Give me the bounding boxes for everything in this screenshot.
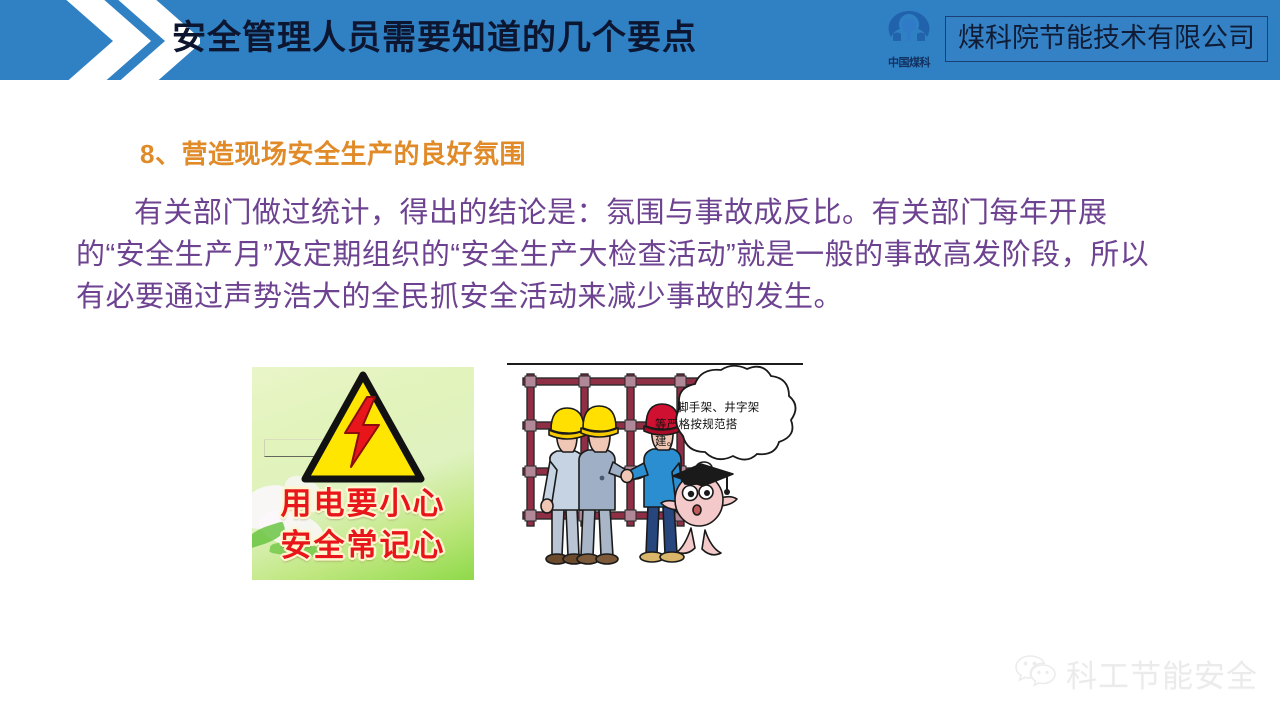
electrical-safety-poster: 用电要小心 安全常记心 bbox=[252, 367, 474, 580]
speech-bubble-text: 脚手架、井字架等严格按规范搭建。 bbox=[655, 399, 761, 450]
scaffold-safety-cartoon bbox=[505, 360, 805, 582]
watermark: 科工节能安全 bbox=[1015, 651, 1258, 696]
watermark-text: 科工节能安全 bbox=[1066, 651, 1258, 696]
body-paragraph: 有关部门做过统计，得出的结论是：氛围与事故成反比。有关部门每年开展的“安全生产月… bbox=[76, 192, 1166, 318]
company-name-box: 煤科院节能技术有限公司 bbox=[945, 16, 1268, 62]
cctec-emblem-icon: 中国煤科 bbox=[881, 8, 937, 70]
section-heading: 8、营造现场安全生产的良好氛围 bbox=[140, 134, 526, 171]
page-title: 安全管理人员需要知道的几个要点 bbox=[172, 14, 697, 62]
cartoon-artwork bbox=[505, 360, 805, 582]
brand-block: 中国煤科 煤科院节能技术有限公司 bbox=[881, 4, 1268, 74]
cctec-logo-name: 中国煤科 bbox=[881, 54, 937, 70]
poster-line-1: 用电要小心 bbox=[252, 487, 474, 521]
poster-line-2: 安全常记心 bbox=[252, 529, 474, 563]
cartoon-top-rule bbox=[507, 363, 803, 365]
wechat-icon bbox=[1015, 654, 1057, 693]
slide-header-band: 安全管理人员需要知道的几个要点 中国煤科 煤科院节能技术有限公司 bbox=[0, 0, 1280, 80]
high-voltage-triangle-icon bbox=[301, 371, 425, 483]
